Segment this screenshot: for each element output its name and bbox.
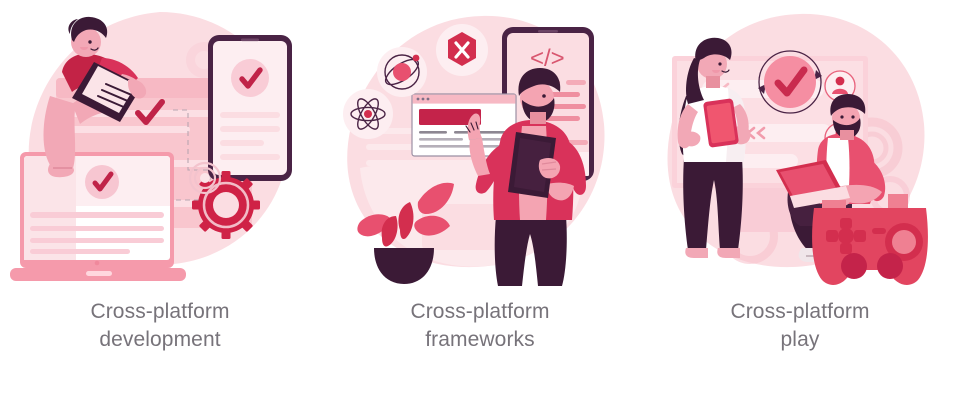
gear-icon-small (190, 163, 220, 193)
caption-line-1: Cross-platform (650, 298, 950, 326)
character-eye (88, 40, 91, 43)
caption-cross-platform-development: Cross-platform development (10, 298, 310, 354)
framework-icon-electron (377, 47, 427, 97)
backdrop-card-line-2 (70, 126, 190, 133)
gamepad-stick-left (841, 253, 867, 279)
character-eye (542, 94, 546, 98)
woman-neck (706, 76, 720, 88)
gamepad-dpad-up (840, 218, 852, 229)
gamepad-select-button (872, 228, 886, 234)
character-neck (530, 112, 546, 124)
caption-cross-platform-frameworks: Cross-platform frameworks (330, 298, 630, 354)
illustration-cross-platform-play (650, 0, 950, 292)
gamepad-stick-right (877, 253, 903, 279)
caption-line-2: development (10, 326, 310, 354)
caption-cross-platform-play: Cross-platform play (650, 298, 950, 354)
framework-icon-react (343, 89, 393, 139)
phone-mockup (208, 35, 292, 181)
caption-line-1: Cross-platform (10, 298, 310, 326)
laptop-check-badge (85, 165, 119, 199)
gamepad-action-inner (892, 230, 916, 254)
gamepad-dpad-down (840, 243, 852, 254)
gamepad-dpad-left (826, 230, 838, 242)
gamepad-dpad-right (854, 230, 866, 242)
woman-eye (718, 62, 721, 65)
caption-line-1: Cross-platform (330, 298, 630, 326)
bg-line-4 (366, 176, 486, 182)
code-glyph: </> (530, 45, 565, 72)
caption-line-2: play (650, 326, 950, 354)
laptop-base-notch (86, 271, 112, 276)
woman-foot-right (717, 248, 740, 258)
illustration-set: Cross-platform development (0, 0, 960, 412)
plant-pot (374, 248, 434, 284)
man-eye-left (840, 115, 843, 118)
phone-check-badge (231, 59, 269, 97)
framework-icon-xamarin (436, 24, 488, 76)
panel-cross-platform-development: Cross-platform development (0, 0, 320, 412)
sync-success-badge (758, 51, 822, 113)
panel-cross-platform-play: Cross-platform play (640, 0, 960, 412)
caption-line-2: frameworks (330, 326, 630, 354)
illustration-cross-platform-development (10, 0, 310, 292)
illustration-cross-platform-frameworks: </> (330, 0, 630, 292)
woman-foot-left (685, 248, 708, 258)
panel-cross-platform-frameworks: </> (320, 0, 640, 412)
man-neck (840, 130, 854, 140)
man-eye-right (851, 115, 854, 118)
sync-check-circle (764, 56, 816, 108)
gamepad-dpad-center (838, 228, 854, 244)
laptop-mockup (10, 152, 186, 281)
woman-phone (703, 98, 739, 148)
gamepad-handle-right (888, 194, 908, 210)
